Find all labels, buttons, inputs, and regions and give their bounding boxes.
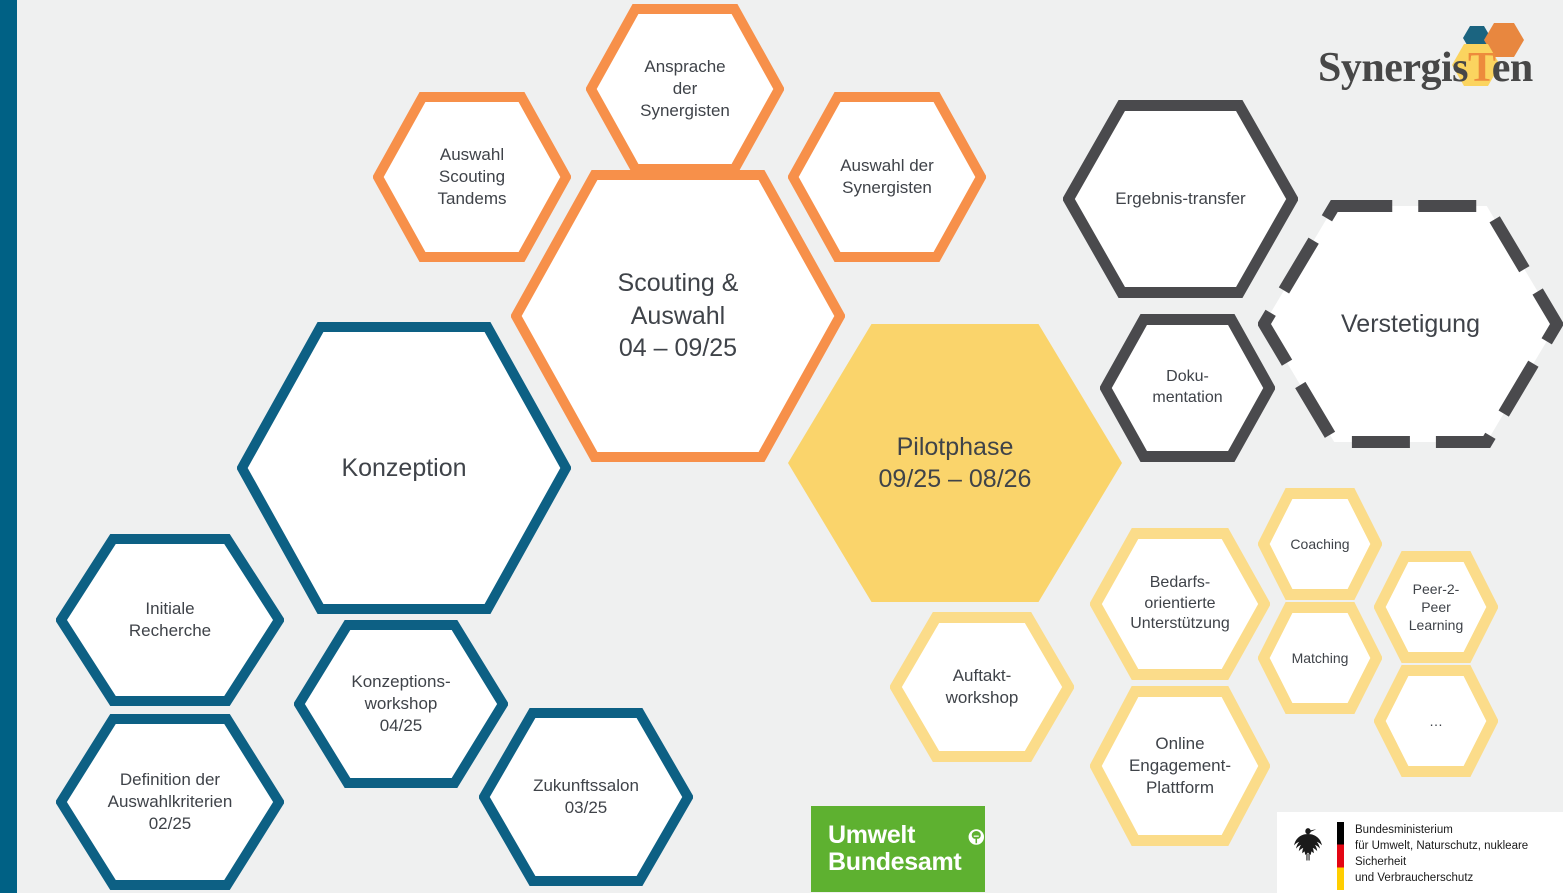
uba-logo-text: Umwelt Bundesamt xyxy=(828,822,961,876)
hexagon-shape xyxy=(1374,551,1498,663)
hex-zukunftssalon[interactable]: Zukunftssalon 03/25 xyxy=(479,708,693,886)
hexagon-shape xyxy=(237,322,571,614)
wordmark-part-t: T xyxy=(1468,45,1492,91)
slide-canvas: Ansprache der Synergisten Auswahl Scouti… xyxy=(0,0,1563,893)
hex-dokumentation[interactable]: Doku- mentation xyxy=(1100,314,1275,462)
hexagon-shape xyxy=(479,708,693,886)
hexagon-shape xyxy=(1374,665,1498,777)
hexagon-shape xyxy=(586,4,784,174)
hex-verstetigung[interactable]: Verstetigung xyxy=(1258,200,1563,448)
hex-ansprache-der-synergisten[interactable]: Ansprache der Synergisten xyxy=(586,4,784,174)
hex-online-engagement-plattform[interactable]: Online Engagement- Plattform xyxy=(1090,686,1270,846)
synergisten-logo: SynergisTen xyxy=(1318,18,1540,96)
bundesadler-icon xyxy=(1291,822,1325,862)
hexagon-shape xyxy=(1258,200,1563,448)
hexagon-shape xyxy=(294,620,508,788)
hexagon-shape xyxy=(1090,528,1270,680)
hexagon-shape xyxy=(788,324,1122,602)
hexagon-shape xyxy=(1090,686,1270,846)
uba-tree-person-icon xyxy=(968,822,985,852)
synergisten-wordmark: SynergisTen xyxy=(1318,44,1533,92)
bmuv-logo-text: Bundesministerium für Umwelt, Naturschut… xyxy=(1355,822,1563,886)
hex-bedarfsorientierte-unterstuetzung[interactable]: Bedarfs- orientierte Unterstützung xyxy=(1090,528,1270,680)
hex-weitere[interactable]: … xyxy=(1374,665,1498,777)
hex-coaching[interactable]: Coaching xyxy=(1258,488,1382,600)
hex-matching[interactable]: Matching xyxy=(1258,602,1382,714)
hexagon-shape xyxy=(56,534,284,706)
hex-konzeption[interactable]: Konzeption xyxy=(237,322,571,614)
hexagon-shape xyxy=(1258,602,1382,714)
wordmark-part1: Synergis xyxy=(1318,45,1468,91)
wordmark-part2: en xyxy=(1492,45,1533,91)
hex-auftaktworkshop[interactable]: Auftakt- workshop xyxy=(890,612,1074,762)
hexagon-shape xyxy=(890,612,1074,762)
hexagon-shape xyxy=(1258,488,1382,600)
hex-peer-2-peer-learning[interactable]: Peer-2- Peer Learning xyxy=(1374,551,1498,663)
hex-konzeptionsworkshop[interactable]: Konzeptions- workshop 04/25 xyxy=(294,620,508,788)
german-flag-stripe xyxy=(1337,822,1344,890)
hexagon-shape xyxy=(1100,314,1275,462)
bmuv-logo: Bundesministerium für Umwelt, Naturschut… xyxy=(1277,812,1563,893)
left-accent-bar xyxy=(0,0,17,893)
hex-initiale-recherche[interactable]: Initiale Recherche xyxy=(56,534,284,706)
hexagon-shape xyxy=(56,714,284,890)
hex-definition-auswahlkriterien[interactable]: Definition der Auswahlkriterien 02/25 xyxy=(56,714,284,890)
hex-pilotphase[interactable]: Pilotphase 09/25 – 08/26 xyxy=(788,324,1122,602)
umweltbundesamt-logo: Umwelt Bundesamt xyxy=(811,806,985,892)
